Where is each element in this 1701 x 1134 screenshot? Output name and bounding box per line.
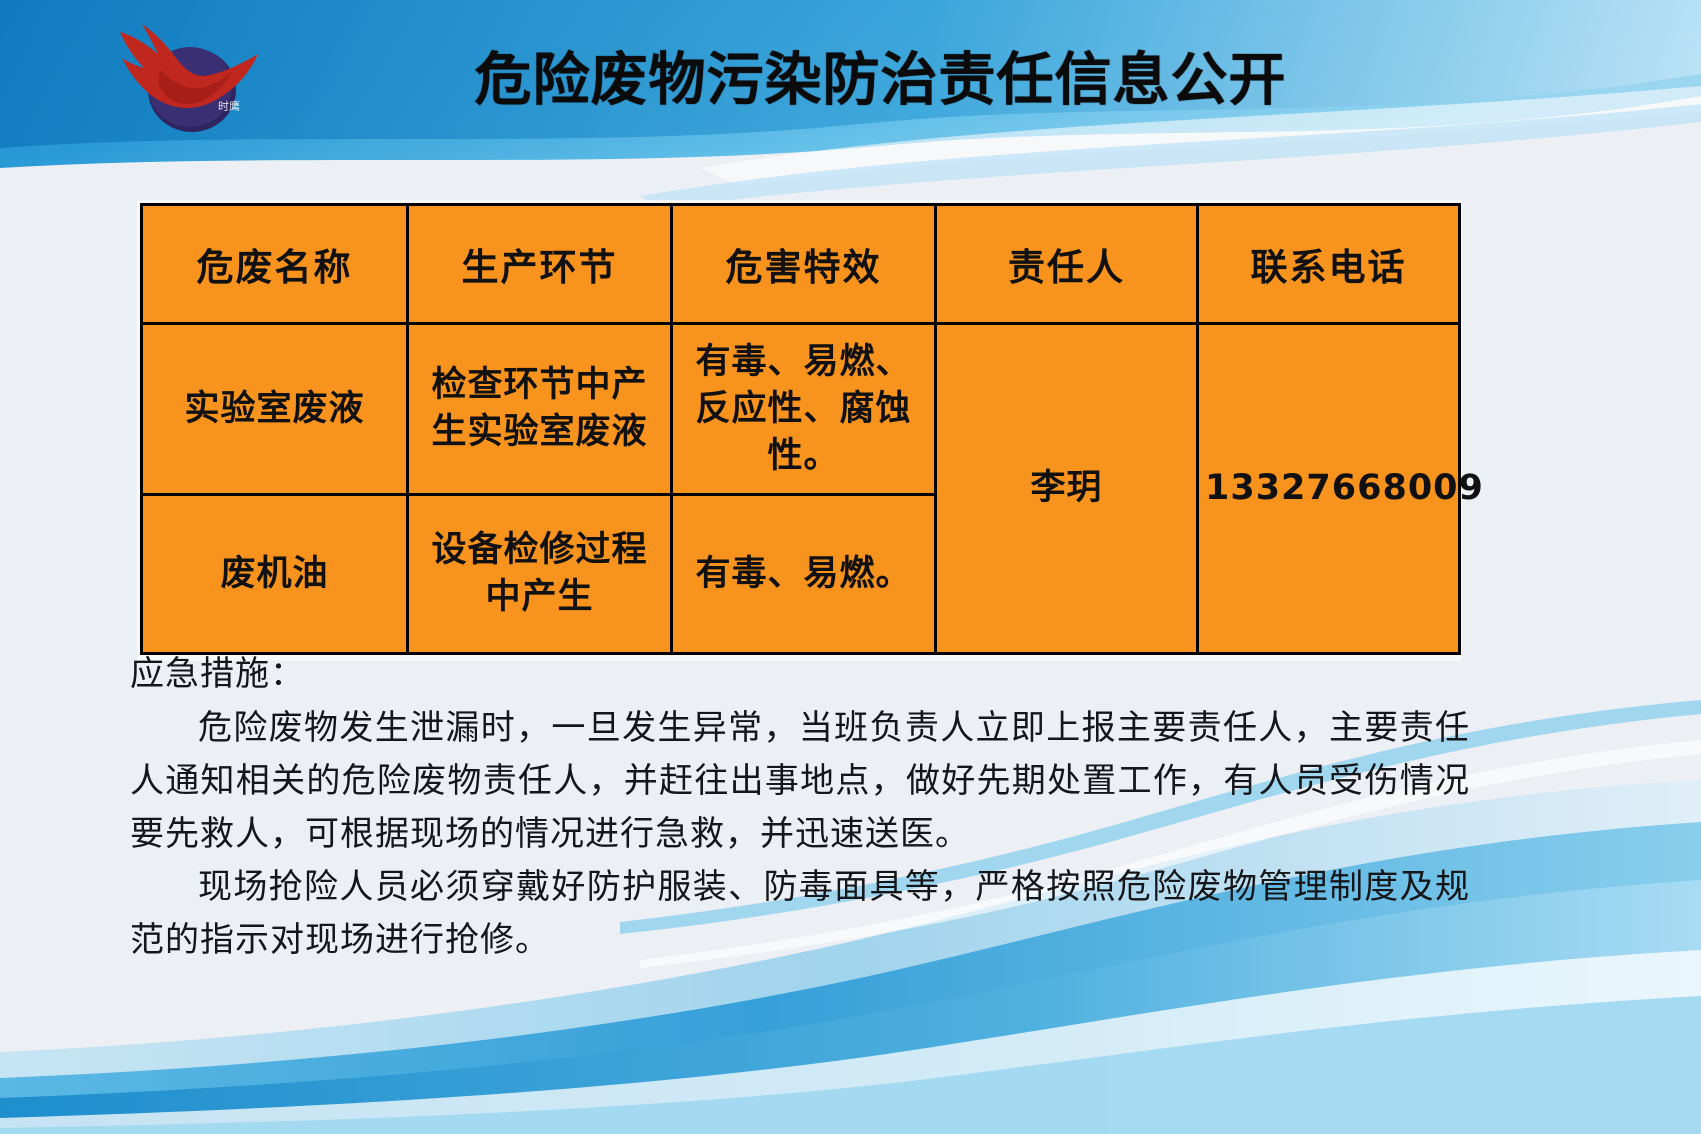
table-header-row: 危废名称 生产环节 危害特效 责任人 联系电话 [142,205,1460,324]
cell-responsible-person: 李玥 [936,324,1198,654]
cell-waste-name-2: 废机油 [142,495,408,654]
hazardous-waste-table: 危废名称 生产环节 危害特效 责任人 联系电话 实验室废液 检查环节中产生实验室… [140,203,1461,655]
column-header-hazard: 危害特效 [672,205,936,324]
slide-canvas: 时鹰 危险废物污染防治责任信息公开 危废名称 生产环节 危害特效 责任人 联系电… [0,0,1701,1134]
column-header-stage: 生产环节 [408,205,672,324]
cell-hazard-2: 有毒、易燃。 [672,495,936,654]
cell-stage-2: 设备检修过程中产生 [408,495,672,654]
emergency-measures-section: 应急措施： 危险废物发生泄漏时，一旦发生异常，当班负责人立即上报主要责任人，主要… [130,648,1470,967]
header-band: 时鹰 危险废物污染防治责任信息公开 [0,0,1701,160]
emergency-paragraph-1: 危险废物发生泄漏时，一旦发生异常，当班负责人立即上报主要责任人，主要责任人通知相… [130,702,1470,861]
page-title: 危险废物污染防治责任信息公开 [0,48,1701,112]
column-header-waste-name: 危废名称 [142,205,408,324]
hazardous-waste-table-wrapper: 危废名称 生产环节 危害特效 责任人 联系电话 实验室废液 检查环节中产生实验室… [137,200,1462,661]
cell-stage-1: 检查环节中产生实验室废液 [408,324,672,495]
column-header-phone: 联系电话 [1198,205,1460,324]
table-row: 实验室废液 检查环节中产生实验室废液 有毒、易燃、反应性、腐蚀性。 李玥 133… [142,324,1460,495]
cell-waste-name-1: 实验室废液 [142,324,408,495]
emergency-measures-heading: 应急措施： [130,648,1470,700]
column-header-person: 责任人 [936,205,1198,324]
cell-contact-phone: 13327668009 [1198,324,1460,654]
emergency-paragraph-2: 现场抢险人员必须穿戴好防护服装、防毒面具等，严格按照危险废物管理制度及规范的指示… [130,861,1470,967]
cell-hazard-1: 有毒、易燃、反应性、腐蚀性。 [672,324,936,495]
